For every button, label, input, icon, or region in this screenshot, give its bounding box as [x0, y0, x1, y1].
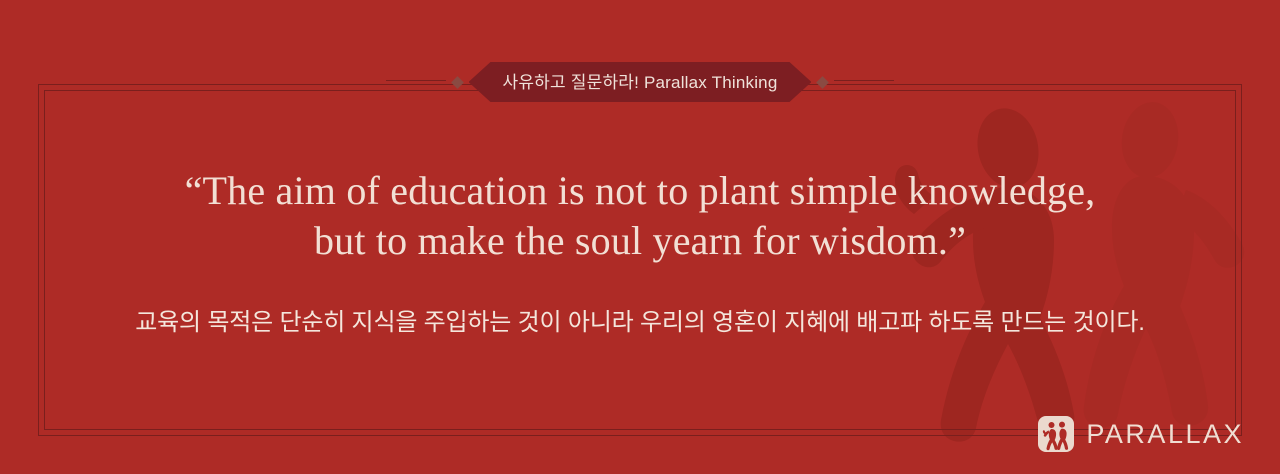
- quote-english-line-1: “The aim of education is not to plant si…: [0, 166, 1280, 216]
- quote-english-line-2: but to make the soul yearn for wisdom.”: [0, 216, 1280, 266]
- two-figures-icon: [1038, 416, 1074, 452]
- logo-wordmark: PARALLAX: [1086, 421, 1244, 448]
- diamond-icon-right: [817, 76, 830, 89]
- brand-logo: PARALLAX: [1038, 416, 1244, 452]
- quote-card: 사유하고 질문하라! Parallax Thinking “The aim of…: [0, 0, 1280, 474]
- diamond-icon-left: [451, 76, 464, 89]
- banner-rule-right: [834, 79, 894, 86]
- quote-korean: 교육의 목적은 단순히 지식을 주입하는 것이 아니라 우리의 영혼이 지혜에 …: [0, 306, 1280, 340]
- banner-plate: 사유하고 질문하라! Parallax Thinking: [469, 62, 812, 102]
- banner: 사유하고 질문하라! Parallax Thinking: [0, 62, 1280, 102]
- banner-rule-left: [386, 79, 446, 86]
- quote-english: “The aim of education is not to plant si…: [0, 166, 1280, 266]
- banner-title: 사유하고 질문하라! Parallax Thinking: [503, 74, 778, 91]
